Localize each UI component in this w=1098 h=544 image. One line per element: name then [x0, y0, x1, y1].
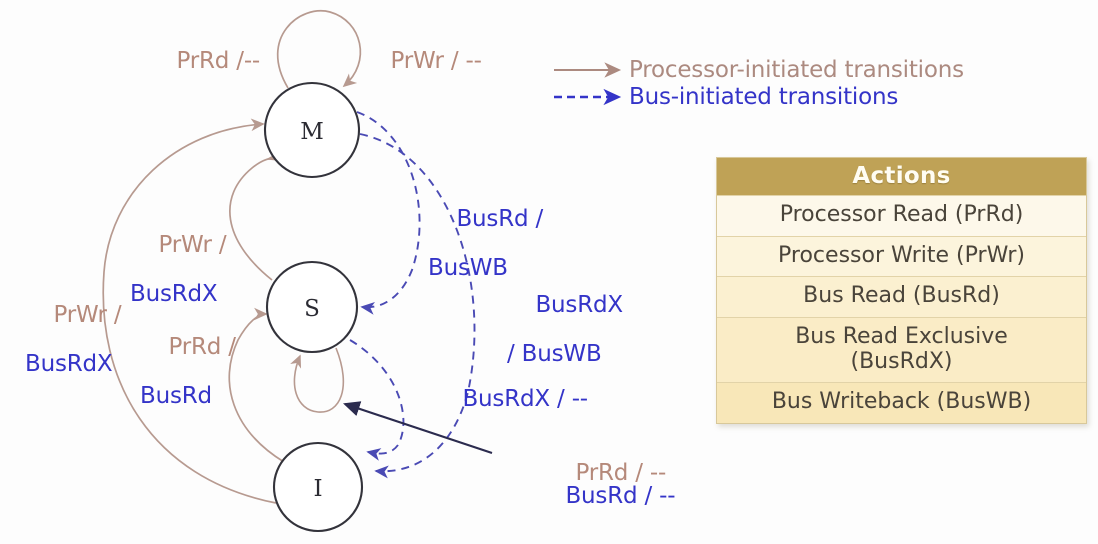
label-line-2: BusRdX: [130, 282, 226, 307]
transition-label-m-self-prwr: PrWr / --: [362, 24, 482, 98]
legend-label-bus: Bus-initiated transitions: [629, 84, 898, 110]
arc-m-self-loop: [278, 11, 361, 88]
arc-m-to-s-busrd: [357, 112, 420, 307]
label-line-2: BusRd: [140, 384, 236, 409]
legend-item-processor: Processor-initiated transitions: [553, 56, 1053, 83]
transition-label-s-to-m-prwr: PrWr / BusRdX: [25, 278, 121, 426]
transition-label-s-self-busrd: BusRd / --: [537, 459, 675, 533]
slide-footer: [0, 534, 1098, 544]
actions-table-row: Bus Read Exclusive (BusRdX): [717, 317, 1086, 382]
dashed-arrow-icon: [553, 87, 629, 107]
actions-table-row: Processor Read (PrRd): [717, 195, 1086, 236]
arc-s-self-loop: [294, 348, 343, 412]
legend: Processor-initiated transitions Bus-init…: [553, 56, 1053, 110]
solid-arrow-icon: [553, 60, 629, 80]
label-line-1: PrRd /: [168, 334, 235, 360]
transition-label-s-to-i-busrdx: BusRdX / --: [434, 362, 588, 436]
actions-table-header: Actions: [717, 158, 1086, 195]
state-label-s: S: [304, 296, 320, 322]
arc-s-to-i-busrdx: [350, 340, 403, 454]
legend-label-processor: Processor-initiated transitions: [629, 57, 964, 83]
label-line-1: PrWr /: [158, 232, 226, 258]
label-line-1: BusRdX / --: [462, 386, 587, 412]
arc-i-to-s-prrd: [229, 314, 284, 462]
label-line-2: BusRdX: [25, 352, 121, 377]
transition-label-m-self-prrd: PrRd /--: [148, 24, 260, 98]
actions-table: Actions Processor Read (PrRd) Processor …: [716, 157, 1087, 424]
state-node-m[interactable]: M: [265, 83, 359, 177]
arc-s-to-m-prwr: [230, 158, 279, 280]
transition-label-i-to-s-prrd: PrRd / BusRd: [140, 310, 236, 458]
actions-table-row: Bus Read (BusRd): [717, 276, 1086, 317]
label-line-1: PrWr /: [53, 302, 121, 328]
label-line-1: BusRdX: [535, 292, 622, 318]
label-line-1: BusRd / --: [565, 483, 675, 509]
slide-canvas: M S I PrRd /-- PrWr / -- PrWr / BusRdX P…: [0, 0, 1098, 544]
label-line-1: PrWr / --: [390, 48, 481, 74]
state-node-i[interactable]: I: [274, 443, 362, 531]
label-line-1: BusRd /: [456, 206, 543, 232]
state-label-m: M: [300, 119, 324, 145]
state-node-s[interactable]: S: [267, 262, 357, 352]
state-label-i: I: [313, 476, 322, 502]
legend-item-bus: Bus-initiated transitions: [553, 83, 1053, 110]
label-line-1: PrRd /--: [176, 48, 260, 74]
actions-table-row: Processor Write (PrWr): [717, 236, 1086, 277]
actions-table-row: Bus Writeback (BusWB): [717, 382, 1086, 423]
